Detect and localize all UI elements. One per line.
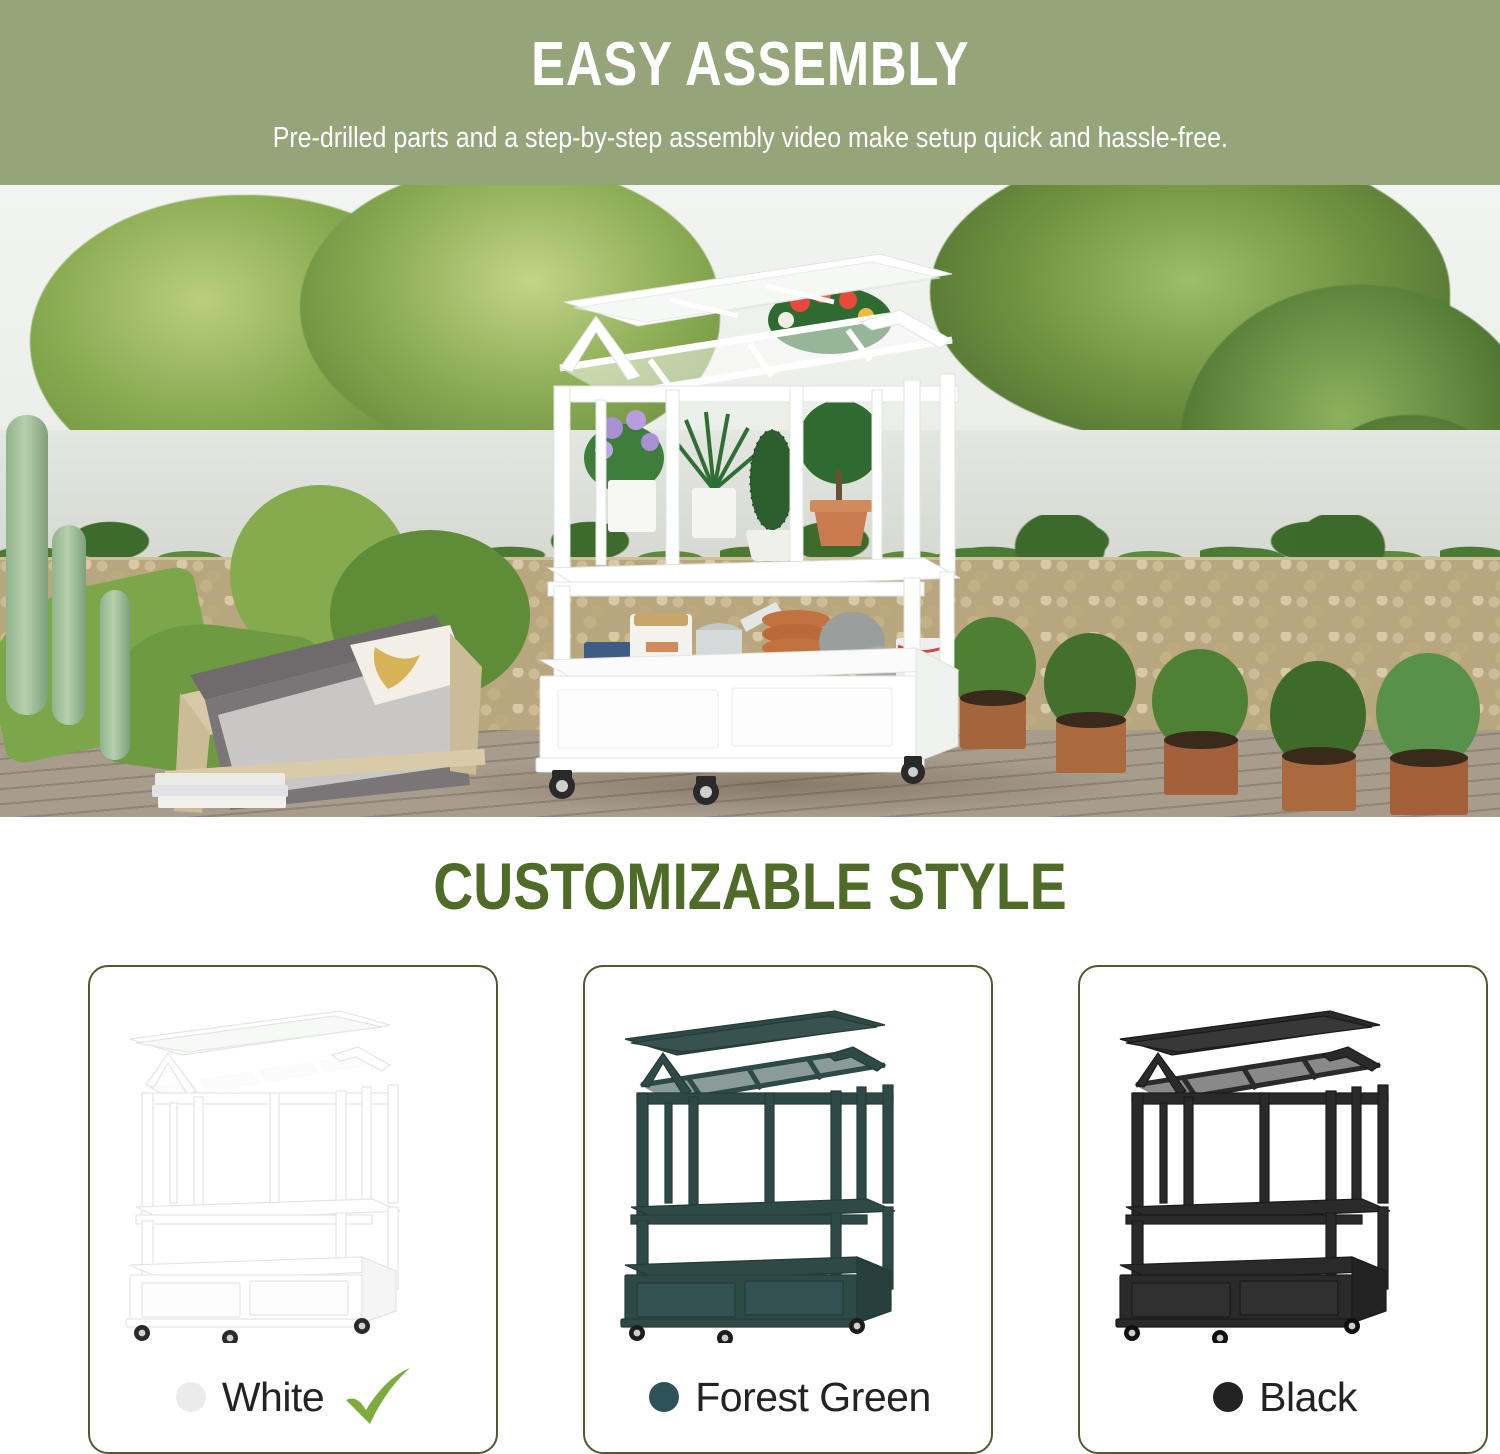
patio-chair xyxy=(150,575,530,815)
color-label-white: White xyxy=(222,1374,324,1421)
product-render-white xyxy=(90,981,498,1343)
hero-lifestyle-photo xyxy=(0,185,1500,817)
banner-subtitle: Pre-drilled parts and a step-by-step ass… xyxy=(272,122,1227,155)
color-swatch-forest-green xyxy=(649,1382,679,1412)
color-label-forest-green: Forest Green xyxy=(695,1374,931,1421)
product-feature-page: EASY ASSEMBLY Pre-drilled parts and a st… xyxy=(0,0,1500,1454)
color-swatch-white xyxy=(176,1382,206,1412)
cart-frame xyxy=(536,254,960,772)
color-option-card-black[interactable]: Black xyxy=(1078,965,1488,1454)
color-label-black: Black xyxy=(1259,1374,1357,1421)
check-icon xyxy=(340,1366,414,1428)
color-option-card-forest-green[interactable]: Forest Green xyxy=(583,965,993,1454)
greenhouse-cart-product xyxy=(500,190,960,810)
banner-title: EASY ASSEMBLY xyxy=(531,34,969,96)
product-render-forest-green xyxy=(585,981,993,1343)
easy-assembly-banner: EASY ASSEMBLY Pre-drilled parts and a st… xyxy=(0,0,1500,185)
customizable-style-title: CUSTOMIZABLE STYLE xyxy=(120,848,1380,924)
copper-planter-row xyxy=(950,515,1500,815)
cactus-plant xyxy=(6,415,48,715)
product-render-black xyxy=(1080,981,1488,1343)
color-options-group: White xyxy=(88,965,1488,1454)
cactus-plant xyxy=(100,590,130,760)
color-option-footer-black[interactable]: Black xyxy=(1080,1342,1488,1452)
color-option-footer-forest-green[interactable]: Forest Green xyxy=(585,1342,993,1452)
cactus-plant xyxy=(52,525,86,725)
color-option-footer-white[interactable]: White xyxy=(90,1342,498,1452)
color-option-card-white[interactable]: White xyxy=(88,965,498,1454)
color-swatch-black xyxy=(1213,1382,1243,1412)
